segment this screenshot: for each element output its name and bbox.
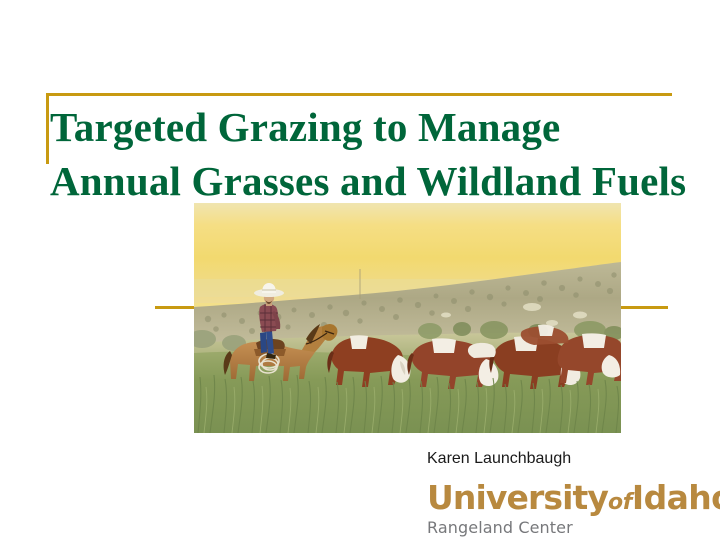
rangeland-cattle-grazing-photo — [194, 203, 621, 433]
logo-wordmark: UniversityofIdaho — [427, 481, 697, 514]
presenter-name: Karen Launchbaugh — [427, 450, 571, 468]
university-of-idaho-logo: UniversityofIdaho Rangeland Center — [427, 481, 697, 537]
logo-university-text: University — [427, 478, 608, 517]
middle-gold-rule-right — [621, 306, 668, 309]
logo-of-text: of — [608, 490, 632, 515]
presentation-slide: Targeted Grazing to Manage Annual Grasse… — [0, 0, 720, 540]
slide-title: Targeted Grazing to Manage Annual Grasse… — [50, 100, 690, 208]
top-gold-rule — [46, 93, 672, 96]
logo-idaho-text: Idaho — [632, 478, 720, 517]
left-gold-rule — [46, 93, 49, 164]
logo-unit-name: Rangeland Center — [427, 518, 697, 537]
